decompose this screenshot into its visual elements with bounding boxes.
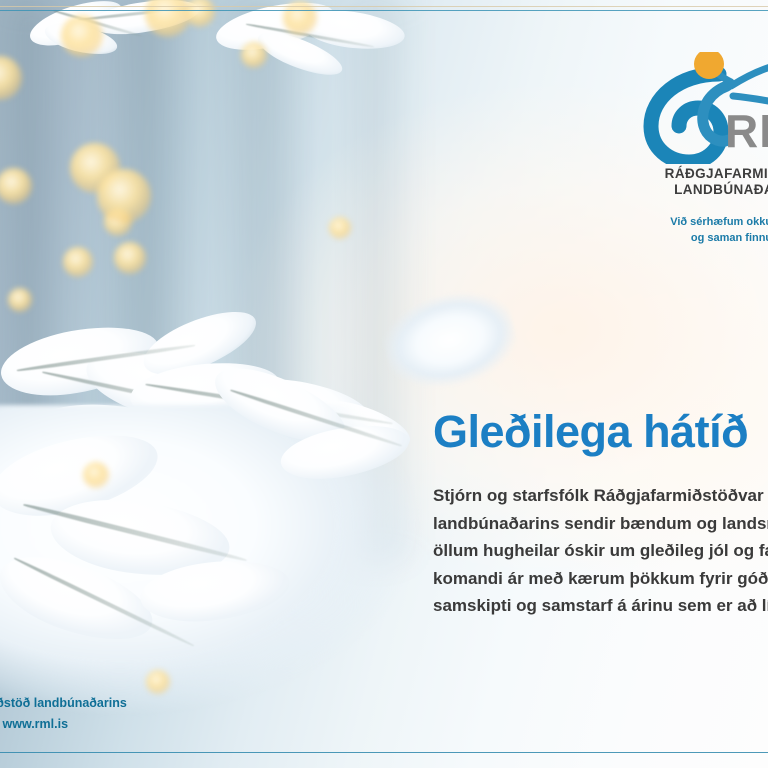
footer-org-name: Ráðgjafarmiðstöð landbúnaðarins bbox=[0, 693, 344, 714]
greeting-heading: Gleðilega hátíð bbox=[433, 408, 768, 455]
holiday-greeting-card: RML RÁÐGJAFARMIÐSTÖÐ LANDBÚNAÐARINS Við … bbox=[0, 0, 768, 768]
greeting-body-line-2: landbúnaðarins sendir bændum og landsmö bbox=[433, 510, 768, 538]
bottom-teal-rule bbox=[0, 752, 768, 753]
logo-subtitle: RÁÐGJAFARMIÐSTÖÐ LANDBÚNAÐARINS bbox=[636, 166, 768, 198]
greeting-body-text: Stjórn og starfsfólk Ráðgjafarmiðstöðvar… bbox=[433, 482, 768, 620]
logo-subtitle-line-1: RÁÐGJAFARMIÐSTÖÐ bbox=[636, 166, 768, 182]
greeting-block: Gleðilega hátíð bbox=[433, 408, 768, 455]
logo-tagline: Við sérhæfum okkur í þinni og saman finn… bbox=[636, 215, 768, 247]
top-gold-rule bbox=[0, 6, 768, 7]
logo-tagline-line-2: og saman finnum v bbox=[636, 231, 768, 247]
greeting-body-line-5: samskipti og samstarf á árinu sem er að … bbox=[433, 592, 768, 620]
footer-website-link[interactable]: www.rml.is bbox=[3, 717, 69, 731]
greeting-body-line-1: Stjórn og starfsfólk Ráðgjafarmiðstöðvar bbox=[433, 482, 768, 510]
logo-subtitle-line-2: LANDBÚNAÐARINS bbox=[636, 182, 768, 198]
footer-contact-line: rml@rml.is|www.rml.is bbox=[0, 714, 344, 735]
rml-swirl-logo-mark: RML bbox=[641, 52, 768, 164]
greeting-body-line-4: komandi ár með kærum þökkum fyrir góð bbox=[433, 565, 768, 593]
logo-tagline-line-1: Við sérhæfum okkur í þinni bbox=[636, 215, 768, 231]
footer-contact: Ráðgjafarmiðstöð landbúnaðarins rml@rml.… bbox=[0, 693, 344, 734]
top-teal-rule bbox=[0, 10, 768, 11]
logo-wordmark: RML bbox=[725, 108, 768, 154]
rml-logo-block: RML RÁÐGJAFARMIÐSTÖÐ LANDBÚNAÐARINS Við … bbox=[636, 52, 768, 247]
greeting-body-line-3: öllum hugheilar óskir um gleðileg jól og… bbox=[433, 537, 768, 565]
